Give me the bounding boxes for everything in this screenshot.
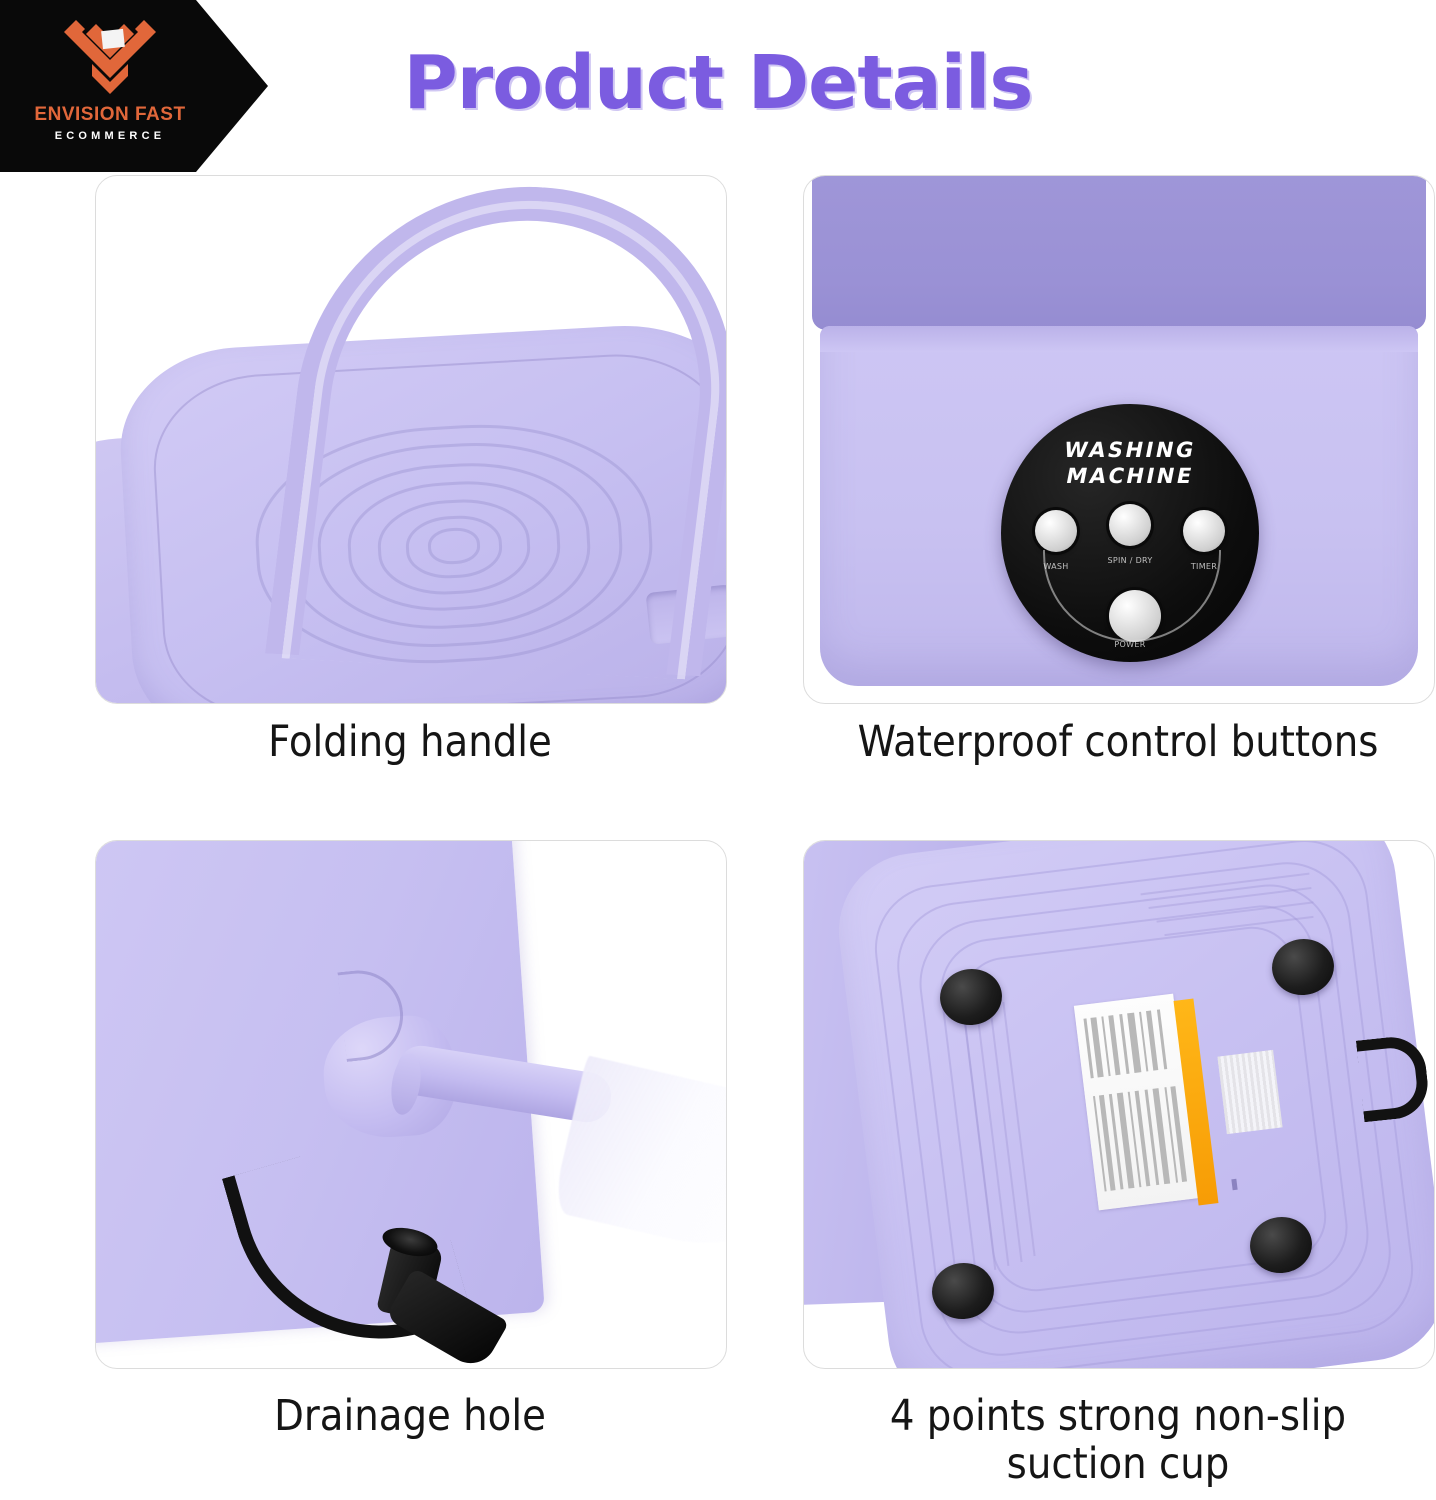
- control-panel-title-line2: MACHINE: [999, 464, 1262, 488]
- folding-handle-highlight: [282, 191, 727, 680]
- brand-badge: ENVISION FAST ECOMMERCE: [0, 0, 268, 172]
- body-ledge: [820, 326, 1418, 352]
- caption-folding-handle: Folding handle: [95, 718, 725, 766]
- brand-name: ENVISION FAST: [20, 104, 200, 126]
- machine-lid: [812, 175, 1426, 330]
- panel-suction-cup: [803, 840, 1435, 1369]
- photo-control-buttons: WASHING MACHINE WASH SPIN / DRY TIMER PO…: [804, 176, 1434, 703]
- spin-dry-button[interactable]: [1109, 504, 1151, 546]
- caption-drainage-hole: Drainage hole: [95, 1392, 725, 1440]
- timer-button[interactable]: [1183, 510, 1225, 552]
- caption-suction-cup: 4 points strong non-slip suction cup: [793, 1392, 1436, 1488]
- caption-control-buttons: Waterproof control buttons: [783, 718, 1436, 766]
- panel-control-buttons: WASHING MACHINE WASH SPIN / DRY TIMER PO…: [803, 175, 1435, 704]
- control-dial-arc: [1043, 550, 1221, 642]
- power-label: POWER: [1093, 640, 1167, 649]
- panel-drainage-hole: [95, 840, 727, 1369]
- wash-mode-button[interactable]: [1035, 510, 1077, 552]
- photo-folding-handle: [96, 176, 726, 703]
- panel-folding-handle: [95, 175, 727, 704]
- brand-subtitle: ECOMMERCE: [20, 130, 200, 142]
- control-panel-title-line1: WASHING: [999, 438, 1262, 462]
- qr-code: [1217, 1050, 1282, 1134]
- photo-drainage-hole: [96, 841, 726, 1368]
- photo-suction-cup: [804, 841, 1434, 1368]
- chevron-layers-logo-icon: [58, 18, 162, 98]
- control-dial[interactable]: WASHING MACHINE WASH SPIN / DRY TIMER PO…: [1001, 404, 1259, 662]
